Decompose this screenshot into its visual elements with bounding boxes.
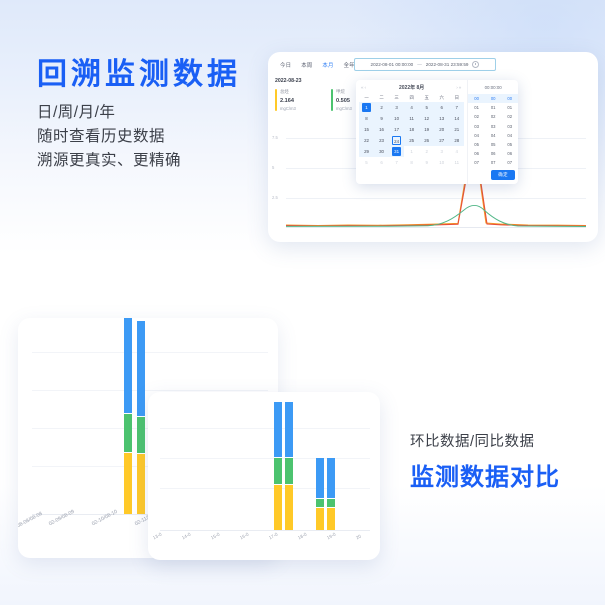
clock-icon xyxy=(472,61,479,68)
calendar-day-label: 31 xyxy=(392,147,401,156)
time-cell[interactable]: 04 xyxy=(485,131,502,140)
calendar-day-label: 13 xyxy=(437,114,446,123)
calendar-day-label: 3 xyxy=(392,103,401,112)
range-end-value: 2022-08-31 23:59:59 xyxy=(426,62,469,67)
calendar-day-label: 16 xyxy=(377,125,386,134)
calendar-day-label: 1 xyxy=(362,103,371,112)
bar-segment-methane xyxy=(124,414,132,452)
time-cell[interactable]: 03 xyxy=(468,122,485,131)
double-chevron-left-icon[interactable]: «‹ xyxy=(361,85,367,90)
calendar-day-label: 2 xyxy=(377,103,386,112)
calendar-day[interactable]: 5 xyxy=(419,102,434,113)
calendar-day[interactable]: 21 xyxy=(449,124,464,135)
calendar-day[interactable]: 3 xyxy=(434,146,449,157)
calendar-day[interactable]: 20 xyxy=(434,124,449,135)
bar-segment-total xyxy=(285,485,293,530)
bar-axis xyxy=(160,530,370,531)
calendar-day-label: 7 xyxy=(392,158,401,167)
calendar-day[interactable]: 29 xyxy=(359,146,374,157)
calendar-day-label: 17 xyxy=(392,125,401,134)
comparison-subtitle: 环比数据/同比数据 xyxy=(410,430,560,451)
time-cell[interactable]: 06 xyxy=(468,149,485,158)
headline-subtitle-2: 随时查看历史数据 xyxy=(37,125,241,149)
bar-xlabel: 19-0 xyxy=(326,532,336,541)
bar-xlabel: 18-0 xyxy=(297,532,307,541)
stat-color-bar xyxy=(331,89,333,111)
weekday-sat: 六 xyxy=(434,94,449,102)
comparison-title: 监测数据对比 xyxy=(410,457,560,492)
time-cell[interactable]: 06 xyxy=(501,149,518,158)
calendar-day-label: 14 xyxy=(452,114,461,123)
bar-segment-methane xyxy=(137,417,145,453)
range-tab-week[interactable]: 本周 xyxy=(296,61,317,69)
bar-xlabel: 14-0 xyxy=(181,532,191,541)
calendar-day-label: 23 xyxy=(377,136,386,145)
calendar-day[interactable]: 25 xyxy=(404,135,419,146)
stacked-bar[interactable] xyxy=(316,458,324,530)
time-cell[interactable]: 05 xyxy=(501,140,518,149)
time-header: 00:00:00 xyxy=(468,80,518,94)
calendar-day[interactable]: 14 xyxy=(449,113,464,124)
time-cell[interactable]: 07 xyxy=(468,158,485,167)
range-tab-today[interactable]: 今日 xyxy=(275,61,296,69)
calendar-day-label: 19 xyxy=(422,125,431,134)
calendar-day-label: 29 xyxy=(362,147,371,156)
time-cell[interactable]: 02 xyxy=(468,112,485,121)
calendar-header: «‹ 2022年 8月 ›» xyxy=(356,80,467,94)
bar-xlabel: 08-08/08-08 xyxy=(18,511,44,529)
calendar-day-label: 4 xyxy=(452,147,461,156)
bar-segment-nmhc xyxy=(137,321,145,416)
bar-segment-total xyxy=(327,508,335,530)
time-cell[interactable]: 05 xyxy=(485,140,502,149)
time-column-seconds[interactable]: 0001020304050607 xyxy=(501,94,518,170)
line-series-methane xyxy=(286,206,586,227)
stat-color-bar xyxy=(275,89,277,111)
range-tab-month[interactable]: 本月 xyxy=(317,61,338,69)
headline-subtitle-1: 日/周/月/年 xyxy=(37,101,241,125)
headline-subtitle-list: 日/周/月/年 随时查看历史数据 溯源更真实、更精确 xyxy=(37,101,241,173)
time-cell[interactable]: 04 xyxy=(501,131,518,140)
calendar-day[interactable]: 22 xyxy=(359,135,374,146)
bar-xlabel: 02-09/08-09 xyxy=(48,509,76,527)
stacked-bar[interactable] xyxy=(137,321,145,514)
headline-subtitle-3: 溯源更真实、更精确 xyxy=(37,149,241,173)
calendar-day-label: 5 xyxy=(362,158,371,167)
calendar-day-label: 9 xyxy=(422,158,431,167)
stat-label: 总烃 xyxy=(280,89,331,95)
calendar-day[interactable]: 2 xyxy=(419,146,434,157)
calendar-day-label: 27 xyxy=(437,136,446,145)
calendar-day[interactable]: 24 xyxy=(389,135,404,146)
calendar-title: 2022年 8月 xyxy=(399,84,424,91)
weekday-sun: 日 xyxy=(449,94,464,102)
calendar-day-label: 12 xyxy=(422,114,431,123)
calendar-day[interactable]: 7 xyxy=(449,102,464,113)
time-cell[interactable]: 05 xyxy=(468,140,485,149)
calendar-day-label: 4 xyxy=(407,103,416,112)
calendar-day[interactable]: 11 xyxy=(404,113,419,124)
comparison-text-block: 环比数据/同比数据 监测数据对比 xyxy=(410,430,560,492)
calendar-day-grid[interactable]: 1234567891011121314151617181920212223242… xyxy=(356,102,467,168)
time-cell[interactable]: 01 xyxy=(501,103,518,112)
calendar-day-label: 25 xyxy=(407,136,416,145)
bar-segment-nmhc xyxy=(124,318,132,413)
weekday-tue: 二 xyxy=(374,94,389,102)
bar-xlabel: 02-10/08-10 xyxy=(91,509,119,527)
calendar-day-label: 10 xyxy=(392,114,401,123)
calendar-day[interactable]: 11 xyxy=(449,157,464,168)
calendar-day[interactable]: 7 xyxy=(389,157,404,168)
calendar-day[interactable]: 1 xyxy=(359,102,374,113)
calendar-day[interactable]: 16 xyxy=(374,124,389,135)
range-separator: — xyxy=(417,62,422,67)
time-cell[interactable]: 01 xyxy=(485,103,502,112)
calendar-day-label: 1 xyxy=(407,147,416,156)
bar-segment-total xyxy=(124,453,132,514)
bar-segment-total xyxy=(274,485,282,530)
range-start-value: 2022-08-01 00:00:00 xyxy=(371,62,414,67)
calendar-day-label: 28 xyxy=(452,136,461,145)
time-column-minutes[interactable]: 0001020304050607 xyxy=(485,94,502,170)
calendar-day-label: 26 xyxy=(422,136,431,145)
calendar-day-label: 11 xyxy=(407,114,416,123)
calendar-day[interactable]: 18 xyxy=(404,124,419,135)
bar-gridline xyxy=(160,458,370,459)
calendar-day-label: 15 xyxy=(362,125,371,134)
stat-card-total-hydrocarbon: 总烃 2.164 mgC/m3 xyxy=(275,86,331,116)
page-title: 回溯监测数据 xyxy=(37,58,241,91)
calendar-day[interactable]: 31 xyxy=(389,146,404,157)
date-range-input[interactable]: 2022-08-01 00:00:00 — 2022-08-31 23:59:5… xyxy=(354,58,496,71)
date-picker-popup[interactable]: «‹ 2022年 8月 ›» 一 二 三 四 五 六 日 12345678910… xyxy=(356,80,518,184)
time-cell[interactable]: 02 xyxy=(501,112,518,121)
bar-segment-total xyxy=(137,454,145,514)
bar-segment-methane xyxy=(316,499,324,507)
calendar-day[interactable]: 8 xyxy=(404,157,419,168)
time-cell[interactable]: 02 xyxy=(485,112,502,121)
calendar-day-label: 21 xyxy=(452,125,461,134)
calendar-day[interactable]: 8 xyxy=(359,113,374,124)
calendar-day[interactable]: 15 xyxy=(359,124,374,135)
calendar-day-label: 18 xyxy=(407,125,416,134)
calendar-day[interactable]: 26 xyxy=(419,135,434,146)
calendar-day[interactable]: 6 xyxy=(434,102,449,113)
stacked-bar[interactable] xyxy=(274,402,282,530)
time-cell[interactable]: 00 xyxy=(468,94,485,103)
calendar-day[interactable]: 4 xyxy=(404,102,419,113)
calendar-day[interactable]: 6 xyxy=(374,157,389,168)
time-cell[interactable]: 00 xyxy=(501,94,518,103)
stat-date-label: 2022-08-23 xyxy=(275,78,302,84)
calendar-day[interactable]: 10 xyxy=(434,157,449,168)
bar-xlabel: 13-0 xyxy=(152,532,162,541)
picker-footer: 确定 xyxy=(491,163,515,181)
bar-gridline xyxy=(32,390,268,391)
calendar-weekday-row: 一 二 三 四 五 六 日 xyxy=(356,94,467,102)
bar-xlabel: 15-0 xyxy=(210,532,220,541)
weekday-wed: 三 xyxy=(389,94,404,102)
calendar-day[interactable]: 30 xyxy=(374,146,389,157)
bar-segment-methane xyxy=(327,499,335,507)
double-chevron-right-icon[interactable]: ›» xyxy=(456,85,462,90)
range-tab-bar: 今日 本周 本月 全年 xyxy=(275,61,360,69)
calendar-day-label: 10 xyxy=(437,158,446,167)
calendar-day[interactable]: 2 xyxy=(374,102,389,113)
calendar-day[interactable]: 17 xyxy=(389,124,404,135)
weekday-thu: 四 xyxy=(404,94,419,102)
calendar-pane: «‹ 2022年 8月 ›» 一 二 三 四 五 六 日 12345678910… xyxy=(356,80,468,184)
calendar-day-label: 22 xyxy=(362,136,371,145)
calendar-day-label: 5 xyxy=(422,103,431,112)
stat-unit: mgC/m3 xyxy=(280,106,331,111)
bar-gridline xyxy=(32,352,268,353)
calendar-day[interactable]: 13 xyxy=(434,113,449,124)
time-cell[interactable]: 04 xyxy=(468,131,485,140)
calendar-day-label: 11 xyxy=(452,158,461,167)
calendar-day[interactable]: 1 xyxy=(404,146,419,157)
calendar-day[interactable]: 23 xyxy=(374,135,389,146)
time-cell[interactable]: 06 xyxy=(485,149,502,158)
bar-gridline xyxy=(160,428,370,429)
time-cell[interactable]: 00 xyxy=(485,94,502,103)
calendar-day[interactable]: 12 xyxy=(419,113,434,124)
calendar-day-label: 24 xyxy=(392,136,401,145)
calendar-day[interactable]: 10 xyxy=(389,113,404,124)
comparison-chart-card-front: 13-0 14-0 15-0 16-0 17-0 18-0 19-0 20 xyxy=(148,392,380,560)
bar-segment-methane xyxy=(285,458,293,484)
calendar-day[interactable]: 5 xyxy=(359,157,374,168)
bar-segment-nmhc xyxy=(327,458,335,498)
calendar-day-label: 30 xyxy=(377,147,386,156)
calendar-day[interactable]: 28 xyxy=(449,135,464,146)
calendar-day-label: 20 xyxy=(437,125,446,134)
calendar-day-label: 7 xyxy=(452,103,461,112)
stacked-bar[interactable] xyxy=(124,318,132,514)
calendar-day-label: 8 xyxy=(407,158,416,167)
bar-segment-nmhc xyxy=(316,458,324,498)
time-cell[interactable]: 03 xyxy=(501,122,518,131)
weekday-fri: 五 xyxy=(419,94,434,102)
weekday-mon: 一 xyxy=(359,94,374,102)
time-cell[interactable]: 03 xyxy=(485,122,502,131)
calendar-day[interactable]: 4 xyxy=(449,146,464,157)
time-column-hours[interactable]: 0001020304050607 xyxy=(468,94,485,170)
calendar-day-label: 8 xyxy=(362,114,371,123)
bar-segment-methane xyxy=(274,458,282,484)
bar-segment-nmhc xyxy=(285,402,293,457)
bar-segment-nmhc xyxy=(274,402,282,457)
calendar-day-label: 6 xyxy=(437,103,446,112)
calendar-day-label: 9 xyxy=(377,114,386,123)
bar-segment-total xyxy=(316,508,324,530)
bar-xlabel: 16-0 xyxy=(239,532,249,541)
time-header-label: 00:00:00 xyxy=(485,85,502,90)
headline-block: 回溯监测数据 日/周/月/年 随时查看历史数据 溯源更真实、更精确 xyxy=(37,58,241,173)
calendar-day-label: 6 xyxy=(377,158,386,167)
calendar-day[interactable]: 3 xyxy=(389,102,404,113)
calendar-day-label: 2 xyxy=(422,147,431,156)
calendar-day[interactable]: 27 xyxy=(434,135,449,146)
confirm-button[interactable]: 确定 xyxy=(491,170,515,180)
calendar-day[interactable]: 9 xyxy=(419,157,434,168)
stacked-bar[interactable] xyxy=(285,402,293,530)
calendar-day[interactable]: 9 xyxy=(374,113,389,124)
time-pane: 00:00:00 0001020304050607 00010203040506… xyxy=(468,80,518,184)
time-spinner-columns[interactable]: 0001020304050607 0001020304050607 000102… xyxy=(468,94,518,170)
calendar-day[interactable]: 19 xyxy=(419,124,434,135)
bar-xlabel: 17-0 xyxy=(268,532,278,541)
stacked-bar[interactable] xyxy=(327,458,335,530)
stat-value: 2.164 xyxy=(280,98,331,104)
time-cell[interactable]: 01 xyxy=(468,103,485,112)
bar-gridline xyxy=(160,488,370,489)
bar-xlabel: 20 xyxy=(355,534,362,541)
calendar-day-label: 3 xyxy=(437,147,446,156)
